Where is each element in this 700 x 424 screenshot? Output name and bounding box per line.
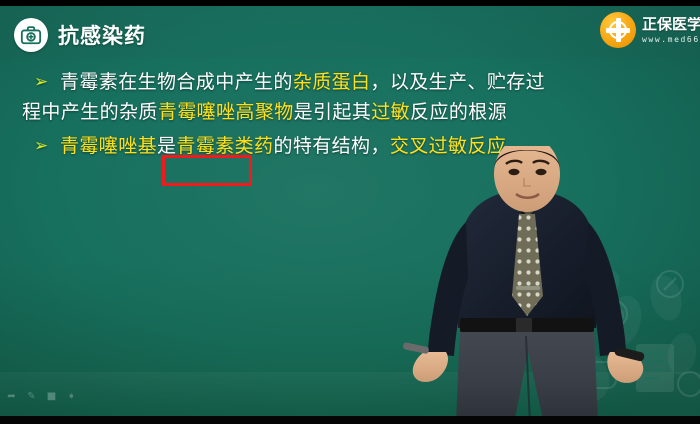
highlight-segment: 青霉素类药 bbox=[176, 135, 273, 157]
text-segment: 青霉素在生物合成中产生的 bbox=[60, 71, 293, 93]
arrow-bullet-icon: ➢ bbox=[34, 68, 60, 96]
text-segment: 反应的根源 bbox=[410, 101, 507, 123]
highlight-segment: 青霉噻唑基 bbox=[60, 135, 157, 157]
slide-line-2: 程中产生的杂质青霉噻唑高聚物是引起其过敏反应的根源 bbox=[22, 98, 507, 126]
slide-line-1-text: 青霉素在生物合成中产生的杂质蛋白，以及生产、贮存过 bbox=[60, 68, 545, 96]
cross-circle-logo-icon bbox=[600, 12, 636, 48]
arrow-bullet-icon: ➢ bbox=[34, 132, 60, 160]
highlight-segment: 青霉噻唑高聚物 bbox=[158, 101, 294, 123]
top-letterbox-bar bbox=[0, 0, 700, 6]
highlight-segment: 过敏 bbox=[371, 101, 410, 123]
brand-url: www.med66 bbox=[642, 36, 700, 44]
slide-line-2-text: 程中产生的杂质青霉噻唑高聚物是引起其过敏反应的根源 bbox=[22, 98, 507, 126]
medical-kit-icon bbox=[14, 18, 48, 52]
brand-name: 正保医学教育 bbox=[642, 17, 700, 32]
text-segment: 是 bbox=[157, 135, 176, 157]
annotation-toolbar[interactable]: ➦ ✎ ■ ➧ bbox=[6, 391, 77, 402]
pen-icon[interactable]: ✎ bbox=[26, 391, 37, 402]
bottom-letterbox-bar bbox=[0, 416, 700, 424]
text-segment: 是引起其 bbox=[294, 101, 372, 123]
text-segment: 程中产生的杂质 bbox=[22, 101, 158, 123]
slide-line-1: ➢ 青霉素在生物合成中产生的杂质蛋白，以及生产、贮存过 bbox=[34, 68, 545, 96]
text-segment: 的特有结构， bbox=[273, 135, 389, 157]
cursor-arrow-icon[interactable]: ➦ bbox=[6, 391, 17, 402]
brand-logo: 正保医学教育 www.med66 bbox=[600, 12, 700, 48]
red-annotation-box bbox=[162, 155, 252, 186]
video-player-screen: 抗感染药 正保医学教育 www.med66 ➢ 青霉素在生物合成中产生的杂质蛋白… bbox=[0, 0, 700, 424]
slide-stage: 抗感染药 正保医学教育 www.med66 ➢ 青霉素在生物合成中产生的杂质蛋白… bbox=[0, 6, 700, 416]
highlight-segment: 杂质蛋白 bbox=[293, 71, 371, 93]
slide-title-block: 抗感染药 bbox=[14, 18, 146, 52]
next-arrow-icon[interactable]: ➧ bbox=[66, 391, 77, 402]
presenter-figure bbox=[398, 146, 658, 416]
text-segment: ，以及生产、贮存过 bbox=[370, 71, 545, 93]
brand-text-block: 正保医学教育 www.med66 bbox=[642, 17, 700, 44]
page-title: 抗感染药 bbox=[58, 20, 146, 50]
stop-square-icon[interactable]: ■ bbox=[46, 391, 57, 402]
logo-ring bbox=[609, 21, 627, 39]
